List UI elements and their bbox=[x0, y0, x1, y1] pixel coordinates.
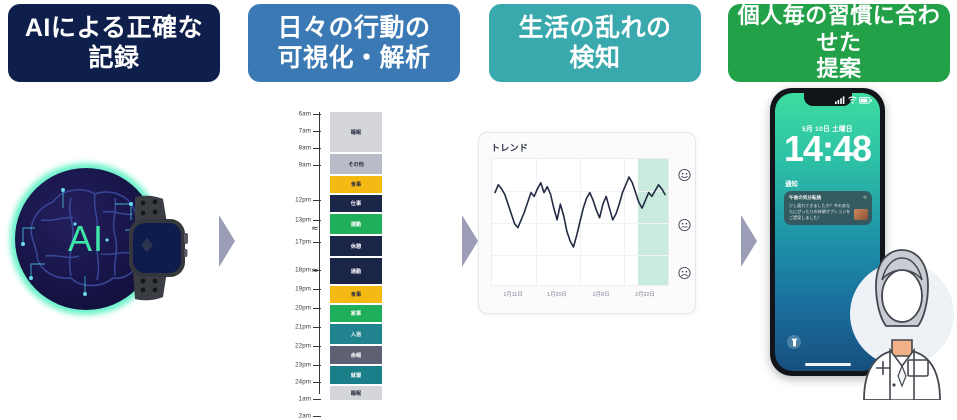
timeline-time-label: 13pm bbox=[295, 217, 311, 224]
timeline-activity-label: 食事 bbox=[351, 181, 361, 188]
header-pill-visualize-line2: 可視化・解析 bbox=[277, 43, 430, 74]
timeline-axis-line bbox=[319, 112, 320, 394]
timeline-tick bbox=[313, 131, 321, 132]
timeline-tick bbox=[313, 165, 321, 166]
timeline-time-label: 23pm bbox=[295, 362, 311, 369]
timeline-activity-label: その他 bbox=[348, 161, 364, 168]
panel-suggestion: 5月 10日 土曜日 14:48 通知 午後の気分転換 今 少し疲れてきましたか… bbox=[758, 88, 957, 401]
sad-face-icon bbox=[678, 267, 691, 280]
header-pill-detect-line1: 生活の乱れの bbox=[518, 13, 671, 44]
timeline-activity-block: 睡眠 bbox=[330, 112, 382, 152]
timeline-tick bbox=[313, 399, 321, 400]
flow-arrow-2-icon bbox=[462, 215, 478, 267]
timeline-tick bbox=[313, 242, 321, 243]
panel-ai-record: AI bbox=[0, 155, 215, 325]
panel-activity-timeline: 6am7am8am9am12pm13pm17pm18pm19pm20pm21pm… bbox=[275, 108, 395, 398]
timeline-activity-label: 家事 bbox=[351, 310, 361, 317]
timeline-time-label: 18pm bbox=[295, 267, 311, 274]
timeline-tick bbox=[313, 148, 321, 149]
timeline-activity-blocks: 睡眠その他食事仕事運動休憩通勤食事家事入浴余暇就寝睡眠 bbox=[330, 112, 382, 398]
timeline-tick bbox=[313, 327, 321, 328]
timeline-activity-block: 余暇 bbox=[330, 346, 382, 364]
timeline-tick bbox=[313, 308, 321, 309]
happy-face-icon bbox=[678, 169, 691, 182]
trend-x-label: 2月22日 bbox=[635, 290, 655, 298]
timeline-tick bbox=[313, 114, 321, 115]
timeline-time-axis: 6am7am8am9am12pm13pm17pm18pm19pm20pm21pm… bbox=[275, 108, 311, 398]
neutral-face-icon bbox=[678, 219, 691, 232]
timeline-time-label: 1am bbox=[299, 396, 311, 403]
header-pill-record-line2: 記録 bbox=[25, 43, 203, 74]
timeline-activity-label: 就寝 bbox=[351, 372, 361, 379]
timeline-time-label: 2am bbox=[299, 413, 311, 420]
timeline-time-label: 22pm bbox=[295, 343, 311, 350]
trend-x-label: 1月20日 bbox=[547, 290, 567, 298]
timeline-activity-label: 余暇 bbox=[351, 352, 361, 359]
axis-break-2-icon: ≈ bbox=[311, 266, 319, 276]
smartwatch-icon bbox=[105, 193, 200, 303]
header-pill-visualize-line1: 日々の行動の bbox=[277, 13, 430, 44]
notification-card[interactable]: 午後の気分転換 今 少し疲れてきましたか？今のあなたにぴったりの休憩オプションを… bbox=[784, 191, 872, 225]
trend-x-label: 1月11日 bbox=[503, 290, 522, 298]
timeline-activity-block: 睡眠 bbox=[330, 386, 382, 400]
timeline-time-label: 8am bbox=[299, 145, 311, 152]
timeline-tick bbox=[313, 346, 321, 347]
timeline-tick bbox=[313, 382, 321, 383]
timeline-activity-block: 入浴 bbox=[330, 324, 382, 344]
timeline-activity-label: 入浴 bbox=[351, 331, 361, 338]
timeline-activity-block: 休憩 bbox=[330, 236, 382, 256]
header-pill-suggest-line2: 提案 bbox=[734, 56, 944, 83]
timeline-tick bbox=[313, 200, 321, 201]
timeline-time-label: 21pm bbox=[295, 324, 311, 331]
timeline-activity-block: 食事 bbox=[330, 176, 382, 193]
timeline-tick bbox=[313, 220, 321, 221]
panel-trend-card: トレンド 1月11日1月20日2月8日2月22日 bbox=[478, 132, 696, 314]
trend-card-title: トレンド bbox=[491, 141, 528, 154]
timeline-time-label: 17pm bbox=[295, 239, 311, 246]
notifications-label: 通知 bbox=[785, 179, 798, 188]
header-pill-suggest-line1: 個人毎の習慣に合わせた bbox=[734, 3, 944, 57]
infographic-stage: AIによる正確な 記録 日々の行動の 可視化・解析 生活の乱れの 検知 個人毎の… bbox=[0, 0, 957, 401]
timeline-activity-block: 食事 bbox=[330, 286, 382, 303]
battery-icon bbox=[859, 97, 872, 104]
timeline-activity-block: 運動 bbox=[330, 214, 382, 234]
trend-line-series bbox=[492, 159, 668, 285]
notification-body: 少し疲れてきましたか？今のあなたにぴったりの休憩オプションをご提案しました！ bbox=[789, 203, 851, 221]
phone-clock: 14:48 bbox=[775, 131, 880, 167]
timeline-activity-block: 仕事 bbox=[330, 195, 382, 212]
timeline-time-label: 9am bbox=[299, 162, 311, 169]
timeline-tick bbox=[313, 365, 321, 366]
home-indicator bbox=[805, 363, 851, 366]
wifi-icon bbox=[848, 96, 857, 104]
phone-status-bar bbox=[835, 96, 872, 104]
timeline-activity-label: 仕事 bbox=[351, 200, 361, 207]
timeline-activity-label: 運動 bbox=[351, 221, 361, 228]
timeline-time-label: 7am bbox=[299, 128, 311, 135]
notification-time: 今 bbox=[863, 195, 867, 201]
signal-icon bbox=[835, 96, 846, 104]
timeline-tick bbox=[313, 416, 321, 417]
flow-arrow-1-icon bbox=[219, 215, 235, 267]
timeline-activity-label: 食事 bbox=[351, 291, 361, 298]
notification-thumbnail bbox=[854, 209, 868, 220]
header-pill-detect: 生活の乱れの 検知 bbox=[489, 4, 701, 82]
timeline-activity-label: 休憩 bbox=[351, 243, 361, 250]
timeline-activity-block: 通勤 bbox=[330, 258, 382, 284]
timeline-time-label: 19pm bbox=[295, 286, 311, 293]
trend-x-label: 2月8日 bbox=[593, 290, 610, 298]
timeline-time-label: 6am bbox=[299, 111, 311, 118]
flashlight-glyph bbox=[791, 338, 798, 347]
header-pill-record: AIによる正確な 記録 bbox=[8, 4, 220, 82]
axis-break-1-icon: ≈ bbox=[311, 224, 319, 234]
header-pill-detect-line2: 検知 bbox=[518, 43, 671, 74]
timeline-activity-block: 家事 bbox=[330, 305, 382, 322]
timeline-activity-label: 睡眠 bbox=[351, 390, 361, 397]
header-pill-visualize: 日々の行動の 可視化・解析 bbox=[248, 4, 460, 82]
timeline-time-label: 20pm bbox=[295, 305, 311, 312]
timeline-activity-label: 睡眠 bbox=[351, 129, 361, 136]
timeline-time-label: 24pm bbox=[295, 379, 311, 386]
timeline-tick bbox=[313, 289, 321, 290]
header-pill-record-line1: AIによる正確な bbox=[25, 13, 203, 44]
notification-title: 午後の気分転換 bbox=[789, 195, 821, 201]
timeline-time-label: 12pm bbox=[295, 197, 311, 204]
header-pill-suggest: 個人毎の習慣に合わせた 提案 bbox=[728, 4, 950, 82]
doctor-illustration bbox=[846, 240, 957, 400]
flashlight-icon[interactable] bbox=[787, 335, 801, 349]
timeline-activity-block: 就寝 bbox=[330, 366, 382, 384]
trend-chart-plot bbox=[491, 158, 669, 286]
flow-arrow-3-icon bbox=[741, 215, 757, 267]
timeline-activity-block: その他 bbox=[330, 154, 382, 174]
timeline-activity-label: 通勤 bbox=[351, 268, 361, 275]
